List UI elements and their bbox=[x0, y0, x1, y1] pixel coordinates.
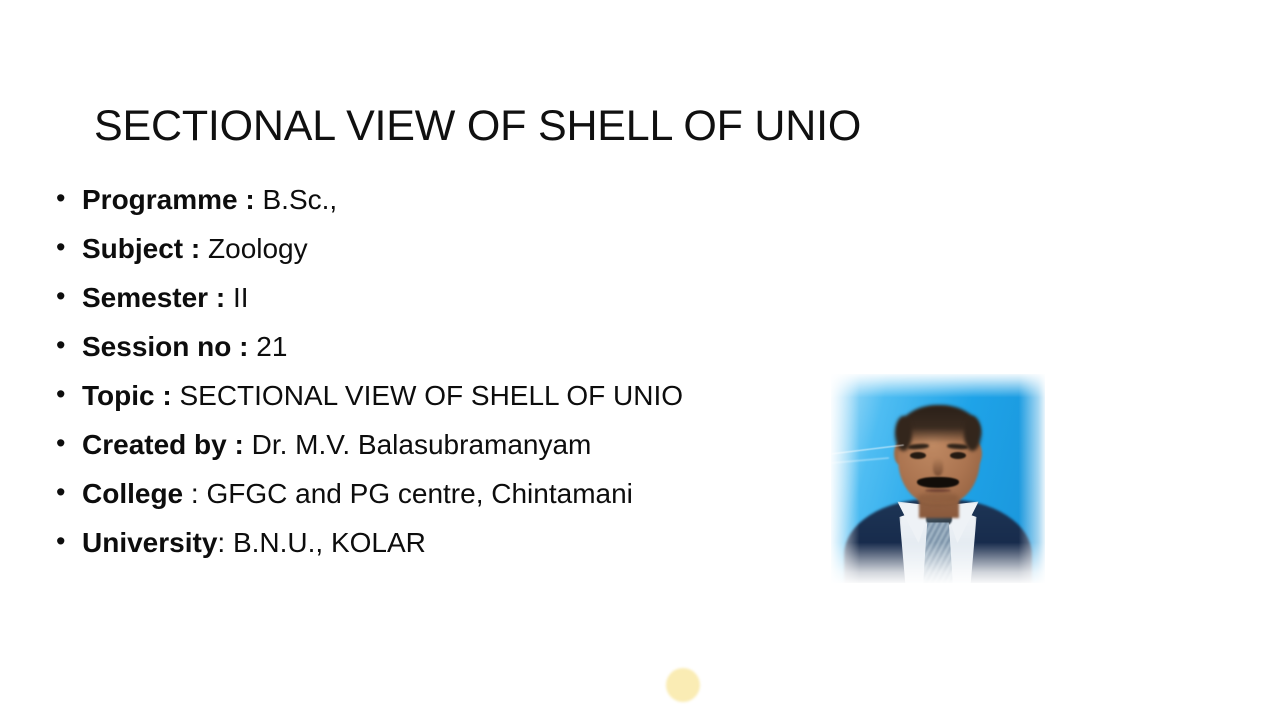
photo-image bbox=[831, 374, 1045, 583]
bullet-dot-icon: • bbox=[56, 528, 82, 555]
list-item-value: Dr. M.V. Balasubramanyam bbox=[244, 429, 592, 460]
list-item-value: : GFGC and PG centre, Chintamani bbox=[183, 478, 633, 509]
slide-canvas: SECTIONAL VIEW OF SHELL OF UNIO • Progra… bbox=[0, 0, 1280, 714]
list-item-value: Zoology bbox=[200, 233, 307, 264]
list-item-text: Topic : SECTIONAL VIEW OF SHELL OF UNIO bbox=[82, 382, 683, 410]
decorative-dot bbox=[666, 668, 700, 702]
photo-nose bbox=[933, 458, 944, 477]
list-item-text: Subject : Zoology bbox=[82, 235, 308, 263]
page-title: SECTIONAL VIEW OF SHELL OF UNIO bbox=[94, 103, 861, 150]
list-item-value: B.Sc., bbox=[255, 184, 337, 215]
bullet-dot-icon: • bbox=[56, 479, 82, 506]
list-item: • University: B.N.U., KOLAR bbox=[56, 529, 836, 578]
list-item-label: College bbox=[82, 478, 183, 509]
bullet-dot-icon: • bbox=[56, 430, 82, 457]
photo-chin bbox=[917, 492, 960, 505]
photo-scan-artifact bbox=[831, 445, 903, 455]
list-item-label: University bbox=[82, 527, 217, 558]
photo-eye-right bbox=[950, 452, 966, 459]
list-item-text: Semester : II bbox=[82, 284, 249, 312]
presenter-photo bbox=[831, 374, 1045, 583]
list-item-label: Session no : bbox=[82, 331, 248, 362]
list-item-label: Topic : bbox=[82, 380, 172, 411]
bullet-dot-icon: • bbox=[56, 381, 82, 408]
list-item: • Session no : 21 bbox=[56, 333, 836, 382]
photo-tie bbox=[923, 522, 953, 583]
photo-scan-artifact bbox=[831, 457, 889, 463]
bullet-dot-icon: • bbox=[56, 283, 82, 310]
bullet-list: • Programme : B.Sc., • Subject : Zoology… bbox=[56, 186, 836, 578]
list-item-value: II bbox=[225, 282, 248, 313]
list-item: • Topic : SECTIONAL VIEW OF SHELL OF UNI… bbox=[56, 382, 836, 431]
list-item-label: Created by : bbox=[82, 429, 244, 460]
list-item-value: : B.N.U., KOLAR bbox=[217, 527, 426, 558]
bullet-dot-icon: • bbox=[56, 332, 82, 359]
bullet-dot-icon: • bbox=[56, 185, 82, 212]
list-item-label: Subject : bbox=[82, 233, 200, 264]
list-item-text: Created by : Dr. M.V. Balasubramanyam bbox=[82, 431, 591, 459]
list-item-label: Semester : bbox=[82, 282, 225, 313]
list-item-value: 21 bbox=[248, 331, 287, 362]
list-item: • Created by : Dr. M.V. Balasubramanyam bbox=[56, 431, 836, 480]
list-item-text: Programme : B.Sc., bbox=[82, 186, 337, 214]
list-item-label: Programme : bbox=[82, 184, 255, 215]
list-item-value: SECTIONAL VIEW OF SHELL OF UNIO bbox=[172, 380, 683, 411]
list-item-text: College : GFGC and PG centre, Chintamani bbox=[82, 480, 633, 508]
list-item: • Subject : Zoology bbox=[56, 235, 836, 284]
list-item: • Programme : B.Sc., bbox=[56, 186, 836, 235]
list-item: • College : GFGC and PG centre, Chintama… bbox=[56, 480, 836, 529]
list-item: • Semester : II bbox=[56, 284, 836, 333]
bullet-dot-icon: • bbox=[56, 234, 82, 261]
list-item-text: University: B.N.U., KOLAR bbox=[82, 529, 426, 557]
list-item-text: Session no : 21 bbox=[82, 333, 287, 361]
